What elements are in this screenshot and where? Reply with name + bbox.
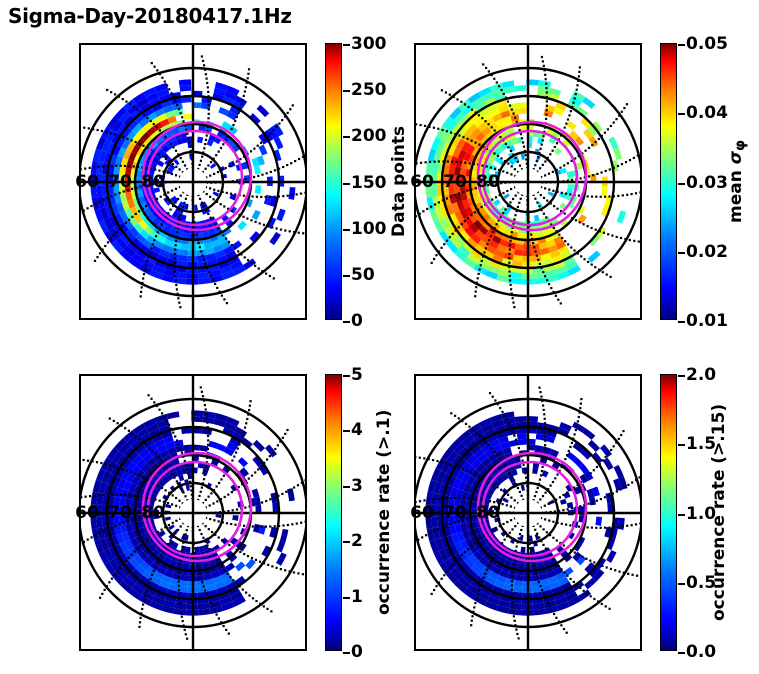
track-point	[204, 404, 206, 406]
track-point	[515, 550, 517, 552]
track-point	[234, 193, 236, 195]
track-point	[431, 593, 433, 595]
track-point	[135, 435, 137, 437]
track-point	[247, 555, 249, 557]
track-point	[209, 602, 211, 604]
track-point	[511, 580, 513, 582]
track-point	[450, 196, 452, 198]
track-point	[172, 522, 174, 524]
track-point	[232, 124, 234, 126]
track-point	[552, 150, 554, 152]
track-point	[617, 165, 619, 167]
track-point	[128, 557, 130, 559]
colorbar-tick-occ-01-3	[343, 486, 350, 488]
track-point	[84, 168, 86, 170]
track-point	[563, 544, 565, 546]
track-point	[93, 495, 95, 497]
track-point	[492, 396, 494, 398]
track-point	[563, 572, 565, 574]
track-point	[471, 620, 473, 622]
track-point	[143, 114, 145, 116]
track-point	[131, 432, 133, 434]
track-point	[602, 459, 604, 461]
track-point	[511, 109, 513, 111]
track-point	[538, 581, 540, 583]
track-point	[243, 525, 245, 527]
track-point	[243, 553, 245, 555]
track-point	[158, 153, 160, 155]
colorbar-ticklabel-occ-01-4: 4	[351, 420, 363, 440]
track-point	[281, 119, 283, 121]
track-point	[113, 574, 115, 576]
track-point	[474, 295, 476, 297]
track-point	[267, 564, 269, 566]
track-point	[608, 494, 610, 496]
track-point	[513, 218, 515, 220]
track-point	[165, 158, 167, 160]
track-point	[511, 576, 513, 578]
data-bin	[567, 171, 574, 177]
track-point	[120, 165, 122, 167]
track-point	[543, 409, 545, 411]
data-bin	[521, 154, 525, 160]
track-point	[514, 620, 516, 622]
track-point	[247, 259, 249, 261]
track-point	[467, 497, 469, 499]
track-point	[533, 246, 535, 248]
track-point	[512, 606, 514, 608]
track-point	[514, 214, 516, 216]
track-point	[167, 191, 169, 193]
track-point	[260, 465, 262, 467]
track-point	[509, 248, 511, 250]
track-point	[539, 167, 541, 169]
track-point	[512, 198, 514, 200]
track-point	[629, 239, 631, 241]
track-point	[102, 530, 104, 532]
track-point	[530, 552, 532, 554]
track-point	[544, 187, 546, 189]
track-point	[114, 193, 116, 195]
track-point	[177, 198, 179, 200]
track-point	[205, 525, 207, 527]
track-point	[516, 121, 518, 123]
track-point	[509, 279, 511, 281]
track-point	[266, 608, 268, 610]
track-point	[217, 227, 219, 229]
data-bin	[276, 552, 287, 565]
track-point	[504, 539, 506, 541]
track-point	[456, 161, 458, 163]
track-point	[499, 457, 501, 459]
track-point	[240, 103, 242, 105]
track-point	[506, 419, 508, 421]
track-point	[178, 572, 180, 574]
track-point	[639, 476, 641, 478]
lat-label-70: 70	[443, 172, 467, 192]
track-point	[266, 458, 268, 460]
track-point	[588, 175, 590, 177]
track-point	[415, 215, 417, 217]
track-point	[207, 164, 209, 166]
track-point	[274, 169, 276, 171]
track-point	[183, 537, 185, 539]
track-point	[501, 542, 503, 544]
track-point	[252, 195, 254, 197]
track-point	[539, 391, 541, 393]
track-point	[605, 605, 607, 607]
track-point	[154, 453, 156, 455]
track-point	[114, 93, 116, 95]
track-point	[186, 529, 188, 531]
track-point	[614, 569, 616, 571]
track-point	[176, 231, 178, 233]
track-point	[205, 465, 207, 467]
track-point	[243, 431, 245, 433]
track-point	[107, 241, 109, 243]
track-point	[178, 302, 180, 304]
track-point	[213, 519, 215, 521]
track-point	[166, 420, 168, 422]
track-point	[206, 82, 208, 84]
track-point	[485, 67, 487, 69]
track-point	[563, 164, 565, 166]
track-point	[282, 524, 284, 526]
track-point	[149, 252, 151, 254]
track-point	[120, 494, 122, 496]
track-point	[561, 568, 563, 570]
track-point	[551, 501, 553, 503]
track-point	[256, 196, 258, 198]
track-point	[517, 206, 519, 208]
track-point	[511, 165, 513, 167]
track-point	[91, 536, 93, 538]
track-point	[218, 536, 220, 538]
track-point	[592, 501, 594, 503]
track-point	[460, 101, 462, 103]
track-point	[170, 92, 172, 94]
track-point	[465, 423, 467, 425]
track-point	[571, 442, 573, 444]
track-point	[180, 611, 182, 613]
track-point	[510, 505, 512, 507]
track-point	[153, 570, 155, 572]
track-point	[209, 175, 211, 177]
track-point	[289, 489, 291, 491]
track-point	[258, 267, 260, 269]
track-point	[569, 446, 571, 448]
track-point	[488, 565, 490, 567]
track-point	[574, 552, 576, 554]
track-point	[196, 564, 198, 566]
track-point	[593, 469, 595, 471]
track-point	[102, 494, 104, 496]
track-point	[631, 193, 633, 195]
track-point	[538, 205, 540, 207]
track-point	[421, 536, 423, 538]
track-point	[226, 192, 228, 194]
track-point	[562, 494, 564, 496]
track-point	[565, 193, 567, 195]
track-point	[534, 164, 536, 166]
track-point	[602, 271, 604, 273]
track-point	[544, 431, 546, 433]
track-point	[231, 128, 233, 130]
track-point	[140, 545, 142, 547]
track-point	[559, 167, 561, 169]
track-point	[462, 136, 464, 138]
track-point	[146, 260, 148, 262]
track-point	[537, 487, 539, 489]
track-point	[205, 499, 207, 501]
data-bin	[274, 137, 284, 150]
track-point	[200, 491, 202, 493]
track-point	[477, 593, 479, 595]
track-point	[260, 526, 262, 528]
track-point	[513, 435, 515, 437]
track-point	[511, 593, 513, 595]
colorbar-ticklabel-occ-01-3: 3	[351, 476, 363, 496]
track-point	[228, 633, 230, 635]
track-point	[113, 235, 115, 237]
track-point	[270, 171, 272, 173]
track-point	[536, 160, 538, 162]
track-point	[549, 605, 551, 607]
track-point	[509, 244, 511, 246]
track-point	[464, 103, 466, 105]
track-point	[636, 575, 638, 577]
track-point	[122, 98, 124, 100]
track-point	[618, 571, 620, 573]
track-point	[99, 597, 101, 599]
track-point	[167, 212, 169, 214]
data-bin	[517, 563, 524, 570]
track-point	[429, 532, 431, 534]
track-point	[188, 141, 190, 143]
track-point	[235, 452, 237, 454]
track-point	[502, 192, 504, 194]
data-bin	[213, 191, 220, 196]
colorbar-tick-occ-015-1	[678, 583, 685, 585]
track-point	[228, 544, 230, 546]
track-point	[536, 255, 538, 257]
track-point	[223, 475, 225, 477]
track-point	[513, 615, 515, 617]
track-point	[203, 147, 205, 149]
track-point	[474, 542, 476, 544]
track-point	[579, 587, 581, 589]
track-point	[490, 235, 492, 237]
track-point	[202, 537, 204, 539]
track-point	[433, 161, 435, 163]
track-point	[110, 238, 112, 240]
track-point	[183, 202, 185, 204]
track-point	[572, 102, 574, 104]
track-point	[200, 577, 202, 579]
track-point	[166, 466, 168, 468]
track-point	[200, 533, 202, 535]
track-point	[587, 526, 589, 528]
track-point	[516, 633, 518, 635]
track-point	[550, 485, 552, 487]
data-bin	[617, 210, 627, 223]
track-point	[559, 496, 561, 498]
track-point	[202, 60, 204, 62]
track-point	[186, 133, 188, 135]
track-point	[532, 242, 534, 244]
track-point	[196, 234, 198, 236]
track-point	[256, 526, 258, 528]
track-point	[425, 161, 427, 163]
track-point	[449, 94, 451, 96]
track-point	[167, 172, 169, 174]
track-point	[548, 189, 550, 191]
track-point	[269, 133, 271, 135]
track-point	[573, 249, 575, 251]
track-point	[156, 126, 158, 128]
track-point	[203, 585, 205, 587]
lat-label-70: 70	[108, 503, 132, 523]
data-bin	[269, 232, 281, 245]
track-point	[442, 129, 444, 131]
track-point	[175, 505, 177, 507]
colorbar-title-data-points: Data points	[389, 43, 409, 320]
track-point	[101, 593, 103, 595]
track-point	[467, 138, 469, 140]
track-point	[122, 225, 124, 227]
track-point	[204, 474, 206, 476]
track-point	[179, 563, 181, 565]
track-point	[536, 577, 538, 579]
track-point	[481, 117, 483, 119]
track-point	[553, 613, 555, 615]
track-point	[244, 90, 246, 92]
data-bin	[518, 439, 527, 445]
track-point	[441, 578, 443, 580]
track-point	[468, 426, 470, 428]
track-point	[450, 412, 452, 414]
track-point	[105, 463, 107, 465]
data-bin	[265, 444, 277, 457]
track-point	[546, 109, 548, 111]
track-point	[205, 408, 207, 410]
track-point	[269, 275, 271, 277]
track-point	[538, 387, 540, 389]
track-point	[208, 100, 210, 102]
track-point	[423, 457, 425, 459]
track-point	[218, 520, 220, 522]
track-point	[206, 594, 208, 596]
track-point	[514, 525, 516, 527]
data-bin	[517, 433, 527, 439]
track-point	[555, 295, 557, 297]
track-point	[495, 196, 497, 198]
track-point	[545, 87, 547, 89]
data-bin	[186, 485, 190, 491]
track-point	[117, 422, 119, 424]
track-point	[545, 83, 547, 85]
track-point	[534, 495, 536, 497]
track-point	[509, 532, 511, 534]
lat-label-60: 60	[410, 503, 434, 523]
lat-label-60: 60	[410, 172, 434, 192]
track-point	[494, 553, 496, 555]
colorbar-ticklabel-mean-sigma-phi-0: 0.01	[686, 311, 728, 331]
track-point	[529, 547, 531, 549]
track-point	[481, 537, 483, 539]
track-point	[204, 143, 206, 145]
track-point	[492, 231, 494, 233]
track-point	[432, 498, 434, 500]
track-point	[253, 148, 255, 150]
track-point	[87, 207, 89, 209]
track-point	[600, 498, 602, 500]
track-point	[626, 194, 628, 196]
track-point	[617, 195, 619, 197]
track-point	[206, 135, 208, 137]
track-point	[613, 122, 615, 124]
track-point	[565, 123, 567, 125]
track-point	[289, 230, 291, 232]
track-point	[595, 141, 597, 143]
track-point	[87, 539, 89, 541]
track-point	[542, 495, 544, 497]
track-point	[174, 100, 176, 102]
track-point	[224, 569, 226, 571]
track-point	[419, 457, 421, 459]
track-point	[593, 561, 595, 563]
track-point	[205, 413, 207, 415]
track-point	[201, 202, 203, 204]
track-point	[419, 500, 421, 502]
track-point	[606, 274, 608, 276]
track-point	[214, 283, 216, 285]
track-point	[94, 534, 96, 536]
track-point	[446, 240, 448, 242]
track-point	[83, 127, 85, 129]
track-point	[280, 568, 282, 570]
track-point	[546, 91, 548, 93]
track-point	[217, 190, 219, 192]
data-bin	[567, 502, 574, 508]
track-point	[139, 621, 141, 623]
track-point	[521, 495, 523, 497]
data-bin	[257, 105, 270, 118]
data-bin	[235, 561, 245, 571]
data-bin	[588, 440, 600, 452]
track-point	[186, 638, 188, 640]
track-point	[508, 423, 510, 425]
track-point	[493, 152, 495, 154]
track-point	[512, 611, 514, 613]
track-point	[130, 471, 132, 473]
track-point	[589, 560, 591, 562]
track-point	[507, 494, 509, 496]
data-bin	[515, 575, 524, 582]
track-point	[207, 117, 209, 119]
track-point	[94, 260, 96, 262]
track-point	[468, 106, 470, 108]
track-point	[175, 244, 177, 246]
track-point	[207, 448, 209, 450]
track-point	[544, 74, 546, 76]
track-point	[253, 504, 255, 506]
track-point	[176, 104, 178, 106]
track-point	[138, 210, 140, 212]
track-point	[247, 77, 249, 79]
data-bin	[532, 468, 538, 474]
track-point	[202, 395, 204, 397]
